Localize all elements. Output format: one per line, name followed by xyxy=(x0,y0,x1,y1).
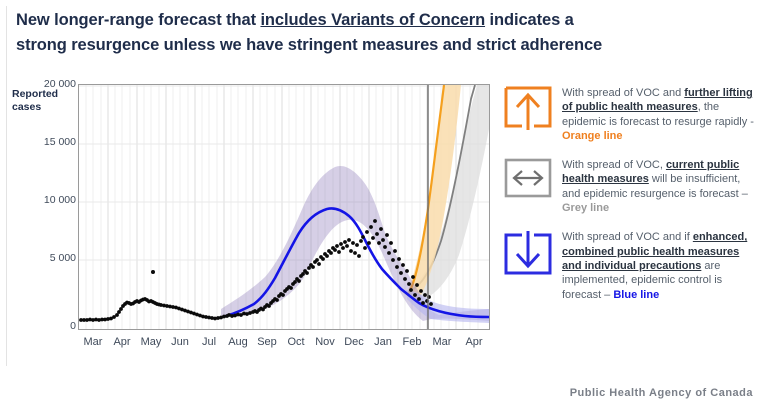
title-line1-part-a: New longer-range forecast that xyxy=(16,11,260,29)
legend-blue-t1: With spread of VOC and if xyxy=(562,231,693,243)
x-tick-oct: Oct xyxy=(287,336,304,348)
y-tick-5000: 5 000 xyxy=(14,252,76,264)
y-tick-15000: 15 000 xyxy=(14,136,76,148)
forecast-chart: 20 000 15 000 10 000 5 000 0 xyxy=(8,84,495,364)
y-tick-0: 0 xyxy=(14,320,76,332)
source-attribution: Public Health Agency of Canada xyxy=(570,387,753,399)
x-tick-jan: Jan xyxy=(374,336,392,348)
title-line1-underlined: includes Variants of Concern xyxy=(260,11,485,29)
left-right-arrow-in-box-icon xyxy=(503,157,553,205)
legend-grey-t1: With spread of VOC, xyxy=(562,159,666,171)
x-tick-apr-2021: Apr xyxy=(465,336,482,348)
x-tick-jun: Jun xyxy=(171,336,189,348)
x-tick-mar-2021: Mar xyxy=(433,336,452,348)
title-line2: strong resurgence unless we have stringe… xyxy=(16,36,602,54)
x-tick-aug: Aug xyxy=(228,336,248,348)
scenario-legend: With spread of VOC and further lifting o… xyxy=(503,84,761,315)
down-arrow-in-box-icon xyxy=(503,229,553,277)
page-title: New longer-range forecast that includes … xyxy=(16,8,751,58)
legend-item-grey[interactable]: With spread of VOC, current public healt… xyxy=(503,156,761,215)
legend-text-orange: With spread of VOC and further lifting o… xyxy=(562,84,758,143)
legend-text-blue: With spread of VOC and if enhanced, comb… xyxy=(562,228,758,301)
plot-area xyxy=(78,84,490,330)
legend-item-orange[interactable]: With spread of VOC and further lifting o… xyxy=(503,84,761,143)
up-arrow-in-box-icon xyxy=(503,85,553,133)
y-tick-10000: 10 000 xyxy=(14,194,76,206)
y-tick-20000: 20 000 xyxy=(14,78,76,90)
x-tick-sep: Sep xyxy=(257,336,277,348)
legend-text-grey: With spread of VOC, current public healt… xyxy=(562,156,758,215)
slide-root: New longer-range forecast that includes … xyxy=(0,0,765,407)
title-line1-part-b: indicates a xyxy=(485,11,574,29)
x-tick-nov: Nov xyxy=(315,336,335,348)
legend-grey-line-label: Grey line xyxy=(562,202,609,214)
x-tick-feb: Feb xyxy=(403,336,422,348)
left-edge-rule xyxy=(6,6,7,366)
legend-orange-line-label: Orange line xyxy=(562,130,623,142)
x-tick-apr: Apr xyxy=(113,336,130,348)
x-tick-may: May xyxy=(141,336,162,348)
legend-orange-t1: With spread of VOC and xyxy=(562,87,684,99)
legend-item-blue[interactable]: With spread of VOC and if enhanced, comb… xyxy=(503,228,761,301)
x-tick-mar-2020: Mar xyxy=(84,336,103,348)
legend-blue-line-label: Blue line xyxy=(613,289,659,301)
x-tick-jul: Jul xyxy=(202,336,216,348)
y-axis-tick-labels: 20 000 15 000 10 000 5 000 0 xyxy=(14,84,76,332)
x-tick-dec: Dec xyxy=(344,336,364,348)
